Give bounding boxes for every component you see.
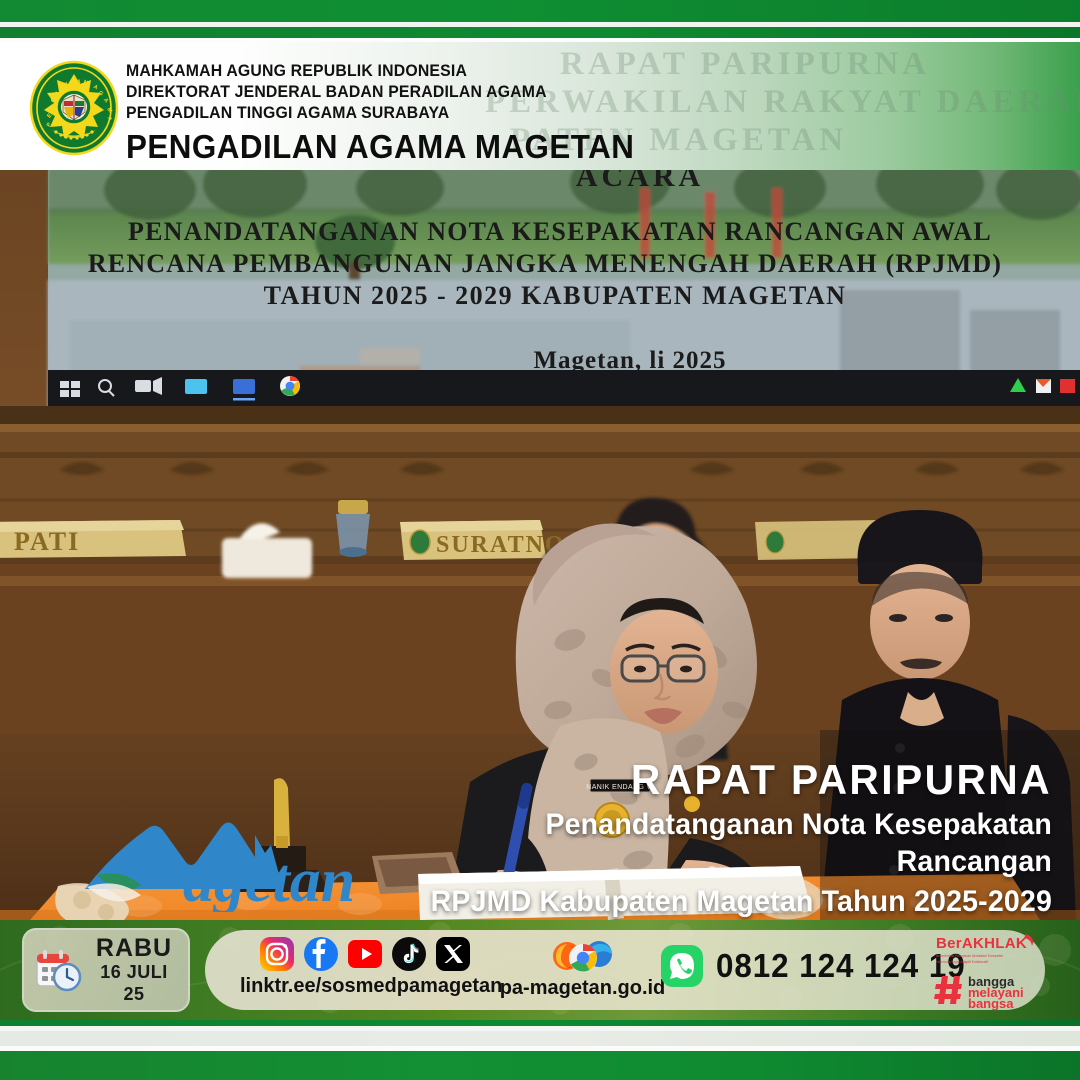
svg-text:Berorientasi Pelayanan Akuntab: Berorientasi Pelayanan Akuntabel Kompete…: [936, 954, 1003, 958]
date-badge: RABU 16 JULI 25: [22, 928, 190, 1012]
date-day-label: RABU: [90, 935, 178, 961]
desk-nameplate-suratno: SURATNO: [400, 520, 566, 560]
court-logo: P E N G A D I L A N A G A M A: [28, 60, 120, 156]
svg-text:BerAKHLAK: BerAKHLAK: [936, 935, 1027, 952]
poster-canvas: RAPAT PARIPURNA PERWAKILAN RAKYAT DAERAH…: [0, 0, 1080, 1080]
svg-text:TAHUN 2025 - 2029 KABUPATEN MA: TAHUN 2025 - 2029 KABUPATEN MAGETAN: [264, 281, 847, 310]
berakhlak-logo-icon: BerAKHLAK Berorientasi Pelayanan Akuntab…: [930, 928, 1042, 1012]
browser-icons: [547, 936, 619, 974]
svg-text:PATI: PATI: [14, 527, 80, 556]
youtube-icon[interactable]: [347, 936, 383, 972]
calendar-clock-icon: [34, 946, 82, 994]
bottom-light-band: [0, 1031, 1080, 1046]
social-linktree-label[interactable]: linktr.ee/sosmedpamagetan: [240, 975, 490, 998]
institution-line-1: MAHKAMAH AGUNG REPUBLIK INDONESIA: [126, 60, 624, 81]
top-green-band-2: [0, 27, 1080, 38]
svg-text:Harmonis Loyal Adaptif Kolabor: Harmonis Loyal Adaptif Kolaboratif: [936, 960, 988, 964]
drinking-glass: [336, 500, 370, 557]
top-green-band-1: [0, 0, 1080, 22]
page-title: PENGADILAN AGAMA MAGETAN: [126, 128, 634, 166]
header-bar: RAPAT PARIPURNA PERWAKILAN RAKYAT DAERAH…: [0, 42, 1080, 170]
chrome-icon: [569, 944, 597, 972]
social-media-group[interactable]: linktr.ee/sosmedpamagetan: [240, 936, 490, 998]
magetan-logo-icon: agetan: [75, 797, 375, 912]
desk-nameplate-bupati: PATI: [0, 520, 186, 558]
whatsapp-number[interactable]: 0812 124 124 19: [716, 947, 966, 985]
magetan-tourism-logo: agetan: [75, 797, 375, 912]
svg-text:RENCANA PEMBANGUNAN JANGKA ME: RENCANA PEMBANGUNAN JANGKA MENENGAH DAER…: [88, 249, 1002, 278]
website-group[interactable]: pa-magetan.go.id: [495, 936, 670, 1000]
magetan-wordmark: agetan: [183, 847, 355, 912]
footer-bar: RABU 16 JULI 25: [0, 920, 1080, 1020]
bottom-green-band-2: [0, 1051, 1080, 1080]
website-url-label[interactable]: pa-magetan.go.id: [495, 977, 670, 1000]
svg-text:bangsa: bangsa: [968, 996, 1014, 1011]
header-text-block: MAHKAMAH AGUNG REPUBLIK INDONESIA DIREKT…: [126, 60, 661, 166]
instagram-icon[interactable]: [259, 936, 295, 972]
facebook-icon[interactable]: [303, 936, 339, 972]
institution-line-2: DIREKTORAT JENDERAL BADAN PERADILAN AGAM…: [126, 81, 624, 102]
whatsapp-icon[interactable]: [660, 944, 704, 988]
svg-text:ACARA: ACARA: [576, 170, 704, 193]
x-twitter-icon[interactable]: [435, 936, 471, 972]
tiktok-icon[interactable]: [391, 936, 427, 972]
institution-line-3: PENGADILAN TINGGI AGAMA SURABAYA: [126, 102, 624, 123]
berakhlak-branding: BerAKHLAK Berorientasi Pelayanan Akuntab…: [930, 928, 1042, 1012]
svg-text:PENANDATANGANAN NOTA KESEPAKAT: PENANDATANGANAN NOTA KESEPAKATAN RANCANG…: [128, 217, 992, 246]
bangga-melayani-bangsa-logo: bangga melayani bangsa: [934, 974, 1024, 1011]
svg-text:Magetan, li 2025: Magetan, li 2025: [533, 347, 726, 374]
court-logo-icon: P E N G A D I L A N A G A M A: [28, 60, 120, 156]
date-value-label: 16 JULI 25: [90, 961, 178, 1005]
event-photograph: ACARA PENANDATANGANAN NOTA KESEPAKATAN R…: [0, 170, 1080, 920]
windows-taskbar: [48, 370, 1080, 406]
